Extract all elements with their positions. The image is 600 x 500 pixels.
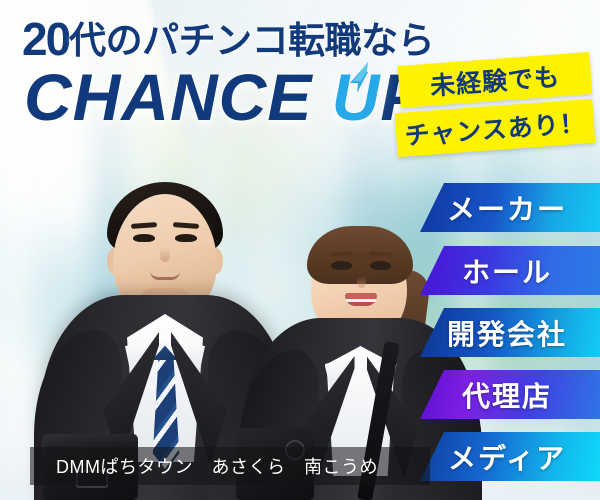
recruitment-banner[interactable]: 20代のパチンコ転職なら CHANCE UP 未経験でも チャンスあり！ メーカ… — [0, 0, 600, 500]
category-hall[interactable]: ホール — [420, 246, 600, 295]
category-maker[interactable]: メーカー — [420, 183, 600, 232]
man-eye-left — [133, 234, 155, 242]
caption-bar: DMMぱちタウン あさくら 南こうめ — [30, 447, 430, 485]
category-label-3: 代理店 — [420, 375, 600, 415]
woman-eye-left — [331, 261, 352, 270]
category-agency[interactable]: 代理店 — [420, 370, 600, 419]
woman-eye-right — [370, 261, 391, 270]
headline-text: 代のパチンコ転職なら — [69, 20, 434, 61]
category-label-2: 開発会社 — [420, 313, 600, 353]
man-eye-right — [175, 234, 197, 242]
caption-text: DMMぱちタウン あさくら 南こうめ — [56, 453, 378, 479]
badge-2-label: チャンスあり！ — [403, 103, 586, 152]
badge-1-label: 未経験でも — [429, 57, 561, 102]
category-label-1: ホール — [420, 251, 600, 291]
category-development-company[interactable]: 開発会社 — [420, 308, 600, 357]
chance-up-logo: CHANCE UP — [24, 64, 425, 130]
man-nose — [160, 248, 170, 262]
headline-number: 20 — [22, 13, 69, 65]
woman-mouth — [345, 293, 377, 306]
woman-nose — [357, 276, 366, 288]
page-title: 20代のパチンコ転職なら — [22, 16, 422, 62]
category-media[interactable]: メディア — [420, 432, 600, 481]
man-mouth — [150, 271, 180, 280]
logo-chance-text: CHANCE — [24, 60, 312, 134]
logo-u-letter: U — [332, 60, 381, 134]
category-label-0: メーカー — [420, 188, 600, 228]
category-label-4: メディア — [420, 437, 600, 477]
